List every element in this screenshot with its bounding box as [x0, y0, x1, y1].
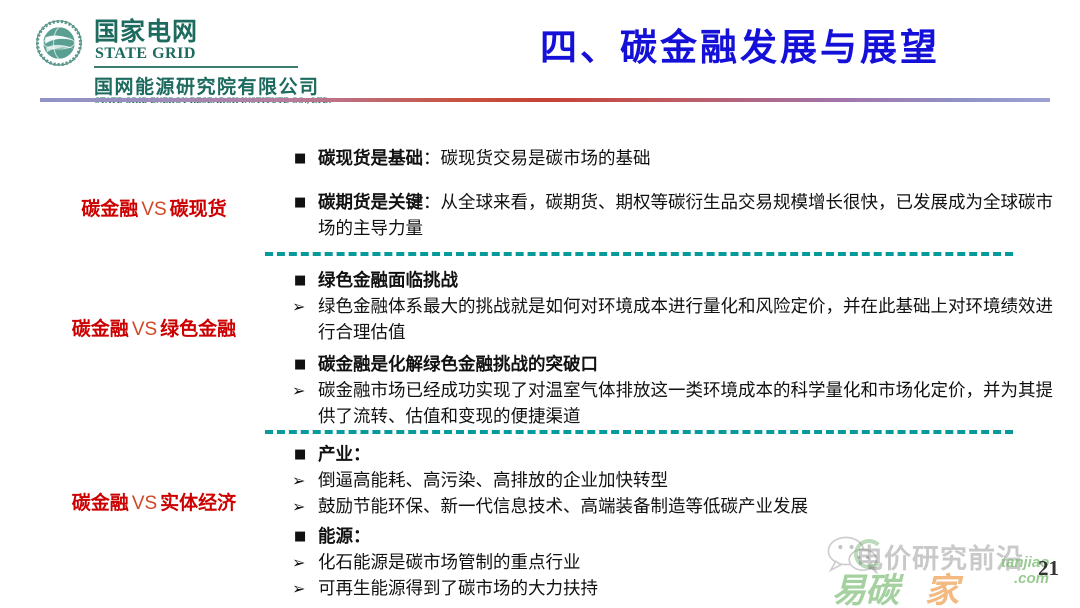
bullet-text: 鼓励节能环保、新一代信息技术、高端装备制造等低碳产业发展	[318, 497, 808, 517]
filled-square-bullet-icon: ■	[294, 442, 306, 468]
bullet-text: 化石能源是碳市场管制的重点行业	[318, 553, 581, 573]
section-content: ■碳现货是基础：碳现货交易是碳市场的基础■碳期货是关键：从全球来看，碳期货、期权…	[288, 146, 1068, 242]
bullet-row: ■碳现货是基础：碳现货交易是碳市场的基础	[288, 146, 1068, 172]
filled-square-bullet-icon: ■	[294, 146, 306, 172]
bullet-heading: 碳金融是化解绿色金融挑战的突破口	[318, 355, 598, 375]
section-label-right: 实体经济	[160, 492, 236, 514]
bullet-heading: 绿色金融面临挑战	[318, 271, 458, 291]
section-label: 碳金融VS碳现货	[40, 194, 268, 221]
arrow-bullet-icon: ➢	[292, 468, 305, 494]
bullet-heading: 碳期货是关键	[318, 193, 423, 213]
bullet-heading: 能源：	[318, 527, 371, 547]
section-content: ■产业：➢倒逼高能耗、高污染、高排放的企业加快转型➢鼓励节能环保、新一代信息技术…	[288, 442, 1068, 602]
section-label-left: 碳金融	[81, 198, 138, 220]
arrow-bullet-icon: ➢	[292, 294, 305, 320]
section-dashed-divider	[265, 252, 1013, 256]
section-label-vs: VS	[138, 199, 169, 220]
arrow-bullet-icon: ➢	[292, 494, 305, 520]
arrow-bullet-icon: ➢	[292, 550, 305, 576]
bullet-row: ➢碳金融市场已经成功实现了对温室气体排放这一类环境成本的科学量化和市场化定价，并…	[288, 378, 1068, 430]
bullet-row: ■绿色金融面临挑战	[288, 268, 1068, 294]
section-dashed-divider	[265, 430, 1013, 434]
slide-header: 国家电网 STATE GRID 国网能源研究院有限公司 STATE GRID E…	[0, 0, 1080, 106]
section-label: 碳金融VS绿色金融	[40, 314, 268, 341]
section-content: ■绿色金融面临挑战➢绿色金融体系最大的挑战就是如何对环境成本进行量化和风险定价，…	[288, 268, 1068, 430]
brand-name-cn: 国家电网	[94, 18, 198, 45]
bullet-text: 可再生能源得到了碳市场的大力扶持	[318, 579, 598, 599]
page-number: 21	[1038, 556, 1059, 581]
slide-canvas: 国家电网 STATE GRID 国网能源研究院有限公司 STATE GRID E…	[0, 0, 1080, 608]
filled-square-bullet-icon: ■	[294, 268, 306, 294]
bullet-row: ■产业：	[288, 442, 1068, 468]
section-label-right: 碳现货	[170, 198, 227, 220]
header-gradient-rule	[40, 98, 1050, 102]
bullet-heading: 产业：	[318, 445, 371, 465]
bullet-row: ➢化石能源是碳市场管制的重点行业	[288, 550, 1068, 576]
filled-square-bullet-icon: ■	[294, 524, 306, 550]
bullet-row: ➢可再生能源得到了碳市场的大力扶持	[288, 576, 1068, 602]
brand-divider	[94, 66, 298, 68]
page-title: 四、碳金融发展与展望	[430, 17, 1050, 71]
bullet-row: ■碳金融是化解绿色金融挑战的突破口	[288, 352, 1068, 378]
bullet-text: 碳金融市场已经成功实现了对温室气体排放这一类环境成本的科学量化和市场化定价，并为…	[318, 381, 1053, 427]
bullet-row: ➢倒逼高能耗、高污染、高排放的企业加快转型	[288, 468, 1068, 494]
state-grid-globe-icon	[36, 20, 82, 66]
brand-lockup: 国家电网 STATE GRID 国网能源研究院有限公司 STATE GRID E…	[36, 12, 336, 98]
bullet-row: ■碳期货是关键：从全球来看，碳期货、期权等碳衍生品交易规模增长很快，已发展成为全…	[288, 190, 1068, 242]
arrow-bullet-icon: ➢	[292, 576, 305, 602]
section-label-vs: VS	[129, 319, 160, 340]
section-label: 碳金融VS实体经济	[40, 488, 268, 515]
section-label-left: 碳金融	[72, 492, 129, 514]
section-label-left: 碳金融	[72, 318, 129, 340]
filled-square-bullet-icon: ■	[294, 352, 306, 378]
bullet-heading: 碳现货是基础	[318, 149, 423, 169]
bullet-text: ：碳现货交易是碳市场的基础	[423, 149, 651, 169]
brand-name-en: STATE GRID	[95, 45, 196, 63]
bullet-text: 倒逼高能耗、高污染、高排放的企业加快转型	[318, 471, 668, 491]
bullet-row: ■能源：	[288, 524, 1068, 550]
slide-body: 碳金融VS碳现货■碳现货是基础：碳现货交易是碳市场的基础■碳期货是关键：从全球来…	[0, 106, 1080, 608]
bullet-row: ➢绿色金融体系最大的挑战就是如何对环境成本进行量化和风险定价，并在此基础上对环境…	[288, 294, 1068, 346]
bullet-text: 绿色金融体系最大的挑战就是如何对环境成本进行量化和风险定价，并在此基础上对环境绩…	[318, 297, 1053, 343]
section-label-vs: VS	[129, 493, 160, 514]
arrow-bullet-icon: ➢	[292, 378, 305, 404]
filled-square-bullet-icon: ■	[294, 190, 306, 216]
bullet-row: ➢鼓励节能环保、新一代信息技术、高端装备制造等低碳产业发展	[288, 494, 1068, 520]
bullet-text: ：从全球来看，碳期货、期权等碳衍生品交易规模增长很快，已发展成为全球碳市场的主导…	[318, 193, 1053, 239]
section-label-right: 绿色金融	[160, 318, 236, 340]
